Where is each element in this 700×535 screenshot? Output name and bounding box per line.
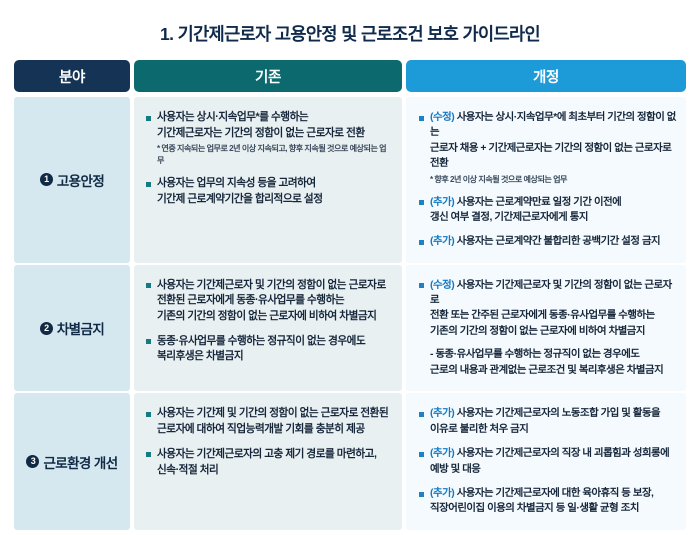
- bullet-text: (수정) 사용자는 기간제근로자 및 기간의 정함이 없는 근로자로전환 또는 …: [430, 278, 678, 379]
- square-bullet-icon: [419, 283, 424, 288]
- text-line: 직장어린이집 이용의 차별금지 등 일·생활 균형 조치: [430, 501, 654, 516]
- bullet-text: 동종·유사업무를 수행하는 정규직이 없는 경우에도복리후생은 차별금지: [157, 334, 365, 365]
- text-line: (추가) 사용자는 기간제근로자의 노동조합 가입 및 활동을: [430, 406, 660, 421]
- bullet-text: (추가) 사용자는 기간제근로자의 직장 내 괴롭힘과 성희롱에예방 및 대응: [430, 446, 669, 477]
- bullet-text: (추가) 사용자는 기간제근로자의 노동조합 가입 및 활동을이유로 불리한 처…: [430, 406, 660, 437]
- square-bullet-icon: [419, 116, 424, 121]
- category-number-badge: 1: [40, 173, 53, 186]
- guideline-page: 1. 기간제근로자 고용안정 및 근로조건 보호 가이드라인 분야 기존 개정 …: [0, 0, 700, 535]
- text-line: 전환 또는 간주된 근로자에게 동종·유사업무를 수행하는: [430, 308, 678, 323]
- bullet-list: (수정) 사용자는 상시·지속업무*에 최초부터 기간의 정함이 없는근로자 채…: [406, 97, 686, 263]
- bullet-text: 사용자는 상시·지속업무*를 수행하는기간제근로자는 기간의 정함이 없는 근로…: [157, 110, 392, 167]
- bullet-list: 사용자는 기간제 및 기간의 정함이 없는 근로자로 전환된근로자에 대하여 직…: [134, 393, 402, 491]
- footnote: * 연중 지속되는 업무로 2년 이상 지속되고, 향후 지속될 것으로 예상되…: [157, 143, 392, 167]
- bullet-item: (추가) 사용자는 기간제근로자의 노동조합 가입 및 활동을이유로 불리한 처…: [419, 406, 678, 437]
- revised-cell: (수정) 사용자는 상시·지속업무*에 최초부터 기간의 정함이 없는근로자 채…: [406, 97, 686, 263]
- text-line: 신속·적절 처리: [157, 463, 376, 479]
- text-line: 사용자는 기간제근로자의 고충 제기 경로를 마련하고,: [157, 447, 376, 463]
- text-line: 사용자는 업무의 지속성 등을 고려하여: [157, 176, 323, 192]
- category-label: 1고용안정: [40, 170, 104, 190]
- square-bullet-icon: [419, 492, 424, 497]
- text-line: 기간제근로자는 기간의 정함이 없는 근로자로 전환: [157, 126, 392, 142]
- category-label: 2차별금지: [40, 318, 104, 338]
- bullet-item: 동종·유사업무를 수행하는 정규직이 없는 경우에도복리후생은 차별금지: [146, 334, 392, 365]
- change-tag: (수정): [430, 112, 457, 123]
- bullet-text: 사용자는 업무의 지속성 등을 고려하여기간제 근로계약기간을 합리적으로 설정: [157, 176, 323, 207]
- bullet-item: (추가) 사용자는 기간제근로자의 직장 내 괴롭힘과 성희롱에예방 및 대응: [419, 446, 678, 477]
- footnote: * 향후 2년 이상 지속될 것으로 예상되는 업무: [430, 174, 678, 186]
- bullet-list: 사용자는 기간제근로자 및 기간의 정함이 없는 근로자로전환된 근로자에게 동…: [134, 265, 402, 378]
- text-line: 갱신 여부 결정, 기간제근로자에게 통지: [430, 210, 621, 225]
- text-line: (추가) 사용자는 근로계약간 불합리한 공백기간 설정 금지: [430, 234, 660, 249]
- category-number-badge: 2: [40, 322, 53, 335]
- square-bullet-icon: [146, 339, 151, 344]
- bullet-item: (추가) 사용자는 근로계약만료 일정 기간 이전에갱신 여부 결정, 기간제근…: [419, 195, 678, 226]
- change-tag: (추가): [430, 197, 457, 208]
- square-bullet-icon: [419, 240, 424, 245]
- column-header-revised: 개정: [406, 60, 686, 92]
- comparison-table: 분야 기존 개정 1고용안정사용자는 상시·지속업무*를 수행하는기간제근로자는…: [14, 60, 686, 530]
- bullet-list: (추가) 사용자는 기간제근로자의 노동조합 가입 및 활동을이유로 불리한 처…: [406, 393, 686, 529]
- text-line: (추가) 사용자는 근로계약만료 일정 기간 이전에: [430, 195, 621, 210]
- text-line: 사용자는 기간제근로자 및 기간의 정함이 없는 근로자로: [157, 278, 386, 294]
- column-header-existing: 기존: [134, 60, 402, 92]
- existing-cell: 사용자는 상시·지속업무*를 수행하는기간제근로자는 기간의 정함이 없는 근로…: [134, 97, 402, 263]
- text-line: 근로자 채용 + 기간제근로자는 기간의 정함이 없는 근로자로 전환: [430, 141, 678, 172]
- bullet-text: 사용자는 기간제근로자의 고충 제기 경로를 마련하고,신속·적절 처리: [157, 447, 376, 478]
- text-line: 이유로 불리한 처우 금지: [430, 422, 660, 437]
- bullet-list: 사용자는 상시·지속업무*를 수행하는기간제근로자는 기간의 정함이 없는 근로…: [134, 97, 402, 221]
- text-line: 동종·유사업무를 수행하는 정규직이 없는 경우에도: [157, 334, 365, 350]
- table-body: 1고용안정사용자는 상시·지속업무*를 수행하는기간제근로자는 기간의 정함이 …: [14, 95, 686, 530]
- bullet-list: (수정) 사용자는 기간제근로자 및 기간의 정함이 없는 근로자로전환 또는 …: [406, 265, 686, 392]
- text-line: 예방 및 대응: [430, 462, 669, 477]
- text-line: 전환된 근로자에게 동종·유사업무를 수행하는: [157, 293, 386, 309]
- existing-cell: 사용자는 기간제근로자 및 기간의 정함이 없는 근로자로전환된 근로자에게 동…: [134, 265, 402, 392]
- bullet-text: (추가) 사용자는 근로계약간 불합리한 공백기간 설정 금지: [430, 234, 660, 249]
- change-tag: (추가): [430, 236, 457, 247]
- square-bullet-icon: [419, 412, 424, 417]
- bullet-text: 사용자는 기간제근로자 및 기간의 정함이 없는 근로자로전환된 근로자에게 동…: [157, 278, 386, 325]
- text-line: (추가) 사용자는 기간제근로자에 대한 육아휴직 등 보장,: [430, 486, 654, 501]
- text-line: (수정) 사용자는 기간제근로자 및 기간의 정함이 없는 근로자로: [430, 278, 678, 309]
- change-tag: (추가): [430, 448, 457, 459]
- revised-cell: (수정) 사용자는 기간제근로자 및 기간의 정함이 없는 근로자로전환 또는 …: [406, 265, 686, 392]
- bullet-item: (추가) 사용자는 근로계약간 불합리한 공백기간 설정 금지: [419, 234, 678, 249]
- bullet-item: 사용자는 상시·지속업무*를 수행하는기간제근로자는 기간의 정함이 없는 근로…: [146, 110, 392, 167]
- square-bullet-icon: [146, 452, 151, 457]
- category-label: 3근로환경 개선: [26, 452, 117, 472]
- bullet-item: 사용자는 기간제 및 기간의 정함이 없는 근로자로 전환된근로자에 대하여 직…: [146, 406, 392, 437]
- table-row: 3근로환경 개선사용자는 기간제 및 기간의 정함이 없는 근로자로 전환된근로…: [14, 393, 686, 529]
- bullet-text: (추가) 사용자는 기간제근로자에 대한 육아휴직 등 보장,직장어린이집 이용…: [430, 486, 654, 517]
- sub-clause: - 동종·유사업무를 수행하는 정규직이 없는 경우에도근로의 내용과 관계없는…: [430, 347, 678, 378]
- bullet-item: 사용자는 기간제근로자의 고충 제기 경로를 마련하고,신속·적절 처리: [146, 447, 392, 478]
- text-line: 근로자에 대하여 직업능력개발 기회를 충분히 제공: [157, 422, 388, 438]
- text-line: 기존의 기간의 정함이 없는 근로자에 비하여 차별금지: [430, 324, 678, 339]
- square-bullet-icon: [146, 116, 151, 121]
- square-bullet-icon: [146, 412, 151, 417]
- text-line: 복리후생은 차별금지: [157, 349, 365, 365]
- bullet-text: (추가) 사용자는 근로계약만료 일정 기간 이전에갱신 여부 결정, 기간제근…: [430, 195, 621, 226]
- category-name: 차별금지: [57, 318, 104, 338]
- category-name: 근로환경 개선: [43, 452, 117, 472]
- square-bullet-icon: [146, 283, 151, 288]
- square-bullet-icon: [146, 182, 151, 187]
- bullet-item: 사용자는 업무의 지속성 등을 고려하여기간제 근로계약기간을 합리적으로 설정: [146, 176, 392, 207]
- bullet-item: (수정) 사용자는 기간제근로자 및 기간의 정함이 없는 근로자로전환 또는 …: [419, 278, 678, 379]
- category-cell: 3근로환경 개선: [14, 393, 130, 529]
- category-cell: 1고용안정: [14, 97, 130, 263]
- page-title: 1. 기간제근로자 고용안정 및 근로조건 보호 가이드라인: [0, 0, 700, 45]
- category-number-badge: 3: [26, 455, 39, 468]
- square-bullet-icon: [419, 452, 424, 457]
- column-header-field: 분야: [14, 60, 130, 92]
- text-line: (추가) 사용자는 기간제근로자의 직장 내 괴롭힘과 성희롱에: [430, 446, 669, 461]
- table-row: 2차별금지사용자는 기간제근로자 및 기간의 정함이 없는 근로자로전환된 근로…: [14, 265, 686, 392]
- bullet-item: (수정) 사용자는 상시·지속업무*에 최초부터 기간의 정함이 없는근로자 채…: [419, 110, 678, 186]
- change-tag: (추가): [430, 488, 457, 499]
- square-bullet-icon: [419, 200, 424, 205]
- text-line: - 동종·유사업무를 수행하는 정규직이 없는 경우에도: [430, 347, 678, 363]
- bullet-text: (수정) 사용자는 상시·지속업무*에 최초부터 기간의 정함이 없는근로자 채…: [430, 110, 678, 186]
- text-line: 근로의 내용과 관계없는 근로조건 및 복리후생은 차별금지: [430, 363, 678, 379]
- change-tag: (추가): [430, 408, 457, 419]
- bullet-text: 사용자는 기간제 및 기간의 정함이 없는 근로자로 전환된근로자에 대하여 직…: [157, 406, 388, 437]
- bullet-item: 사용자는 기간제근로자 및 기간의 정함이 없는 근로자로전환된 근로자에게 동…: [146, 278, 392, 325]
- category-name: 고용안정: [57, 170, 104, 190]
- table-header-row: 분야 기존 개정: [14, 60, 686, 92]
- text-line: (수정) 사용자는 상시·지속업무*에 최초부터 기간의 정함이 없는: [430, 110, 678, 141]
- text-line: 기존의 기간의 정함이 없는 근로자에 비하여 차별금지: [157, 309, 386, 325]
- text-line: 사용자는 상시·지속업무*를 수행하는: [157, 110, 392, 126]
- text-line: 사용자는 기간제 및 기간의 정함이 없는 근로자로 전환된: [157, 406, 388, 422]
- table-row: 1고용안정사용자는 상시·지속업무*를 수행하는기간제근로자는 기간의 정함이 …: [14, 97, 686, 263]
- category-cell: 2차별금지: [14, 265, 130, 392]
- text-line: 기간제 근로계약기간을 합리적으로 설정: [157, 192, 323, 208]
- bullet-item: (추가) 사용자는 기간제근로자에 대한 육아휴직 등 보장,직장어린이집 이용…: [419, 486, 678, 517]
- change-tag: (수정): [430, 280, 457, 291]
- revised-cell: (추가) 사용자는 기간제근로자의 노동조합 가입 및 활동을이유로 불리한 처…: [406, 393, 686, 529]
- existing-cell: 사용자는 기간제 및 기간의 정함이 없는 근로자로 전환된근로자에 대하여 직…: [134, 393, 402, 529]
